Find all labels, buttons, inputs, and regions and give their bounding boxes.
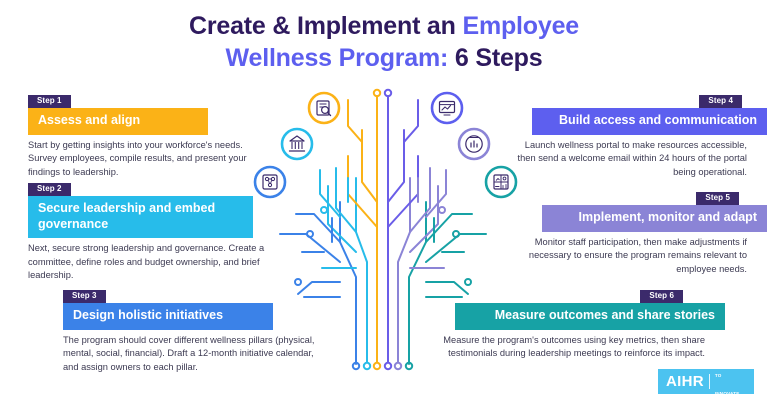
step-heading-4: Build access and communication xyxy=(532,108,767,135)
title-line-1: Create & Implement an Employee xyxy=(189,12,579,40)
title-text-plain: Create & Implement an xyxy=(189,12,462,40)
step-badge-6: Step 6 xyxy=(640,290,683,303)
step-badge-1: Step 1 xyxy=(28,95,71,108)
step-heading-5: Implement, monitor and adapt xyxy=(542,205,767,232)
page-title: Create & Implement an Employee Wellness … xyxy=(0,10,768,74)
node-icon-monitor-chart xyxy=(459,129,489,159)
step-block-5: Step 5 Implement, monitor and adapt Moni… xyxy=(507,187,747,276)
aihr-logo: AIHR ACADEMY TO INNOVATE HR xyxy=(658,369,754,394)
step-badge-row-4: Step 4 xyxy=(512,90,747,108)
step-description-1: Start by getting insights into your work… xyxy=(28,135,260,179)
step-description-4: Launch wellness portal to make resources… xyxy=(512,135,747,179)
step-heading-1: Assess and align xyxy=(28,108,208,135)
step-badge-row-1: Step 1 xyxy=(28,90,260,108)
step-block-2: Step 2 Secure leadership and embed gover… xyxy=(28,178,268,283)
step-block-1: Step 1 Assess and align Start by getting… xyxy=(28,90,260,179)
step-badge-3: Step 3 xyxy=(63,290,106,303)
step-badge-row-2: Step 2 xyxy=(28,178,268,196)
step-badge-4: Step 4 xyxy=(699,95,742,108)
step-block-6: Step 6 Measure outcomes and share storie… xyxy=(443,285,705,361)
step-badge-row-3: Step 3 xyxy=(63,285,315,303)
step-heading-2: Secure leadership and embed governance xyxy=(28,196,253,238)
title-line-2: Wellness Program: 6 Steps xyxy=(226,44,543,72)
logo-divider xyxy=(709,374,710,389)
step-heading-6: Measure outcomes and share stories xyxy=(455,303,725,330)
step-heading-3: Design holistic initiatives xyxy=(63,303,273,330)
title-text-accent: Employee xyxy=(462,12,579,40)
infographic-canvas: Create & Implement an Employee Wellness … xyxy=(0,0,768,402)
step-description-2: Next, secure strong leadership and gover… xyxy=(28,238,268,282)
step-badge-row-6: Step 6 xyxy=(443,285,705,303)
step-description-3: The program should cover different welln… xyxy=(63,330,315,374)
logo-tagline-line-2: INNOVATE HR xyxy=(715,391,740,414)
title-text-accent-2: Wellness Program: xyxy=(226,44,449,72)
step-badge-row-5: Step 5 xyxy=(507,187,747,205)
step-block-4: Step 4 Build access and communication La… xyxy=(512,90,747,179)
title-text-plain-2: 6 Steps xyxy=(448,44,542,72)
logo-wordmark: AIHR xyxy=(666,374,704,389)
logo-tagline: ACADEMY TO INNOVATE HR xyxy=(715,346,746,418)
step-description-5: Monitor staff participation, then make a… xyxy=(507,232,747,276)
step-badge-5: Step 5 xyxy=(696,192,739,205)
node-icon-document-search xyxy=(309,93,339,123)
step-badge-2: Step 2 xyxy=(28,183,71,196)
node-icon-institution xyxy=(282,129,312,159)
step-description-6: Measure the program's outcomes using key… xyxy=(443,330,705,361)
step-block-3: Step 3 Design holistic initiatives The p… xyxy=(63,285,315,374)
logo-tagline-line-1: ACADEMY TO xyxy=(715,355,740,378)
node-icon-portal-screen xyxy=(432,93,462,123)
